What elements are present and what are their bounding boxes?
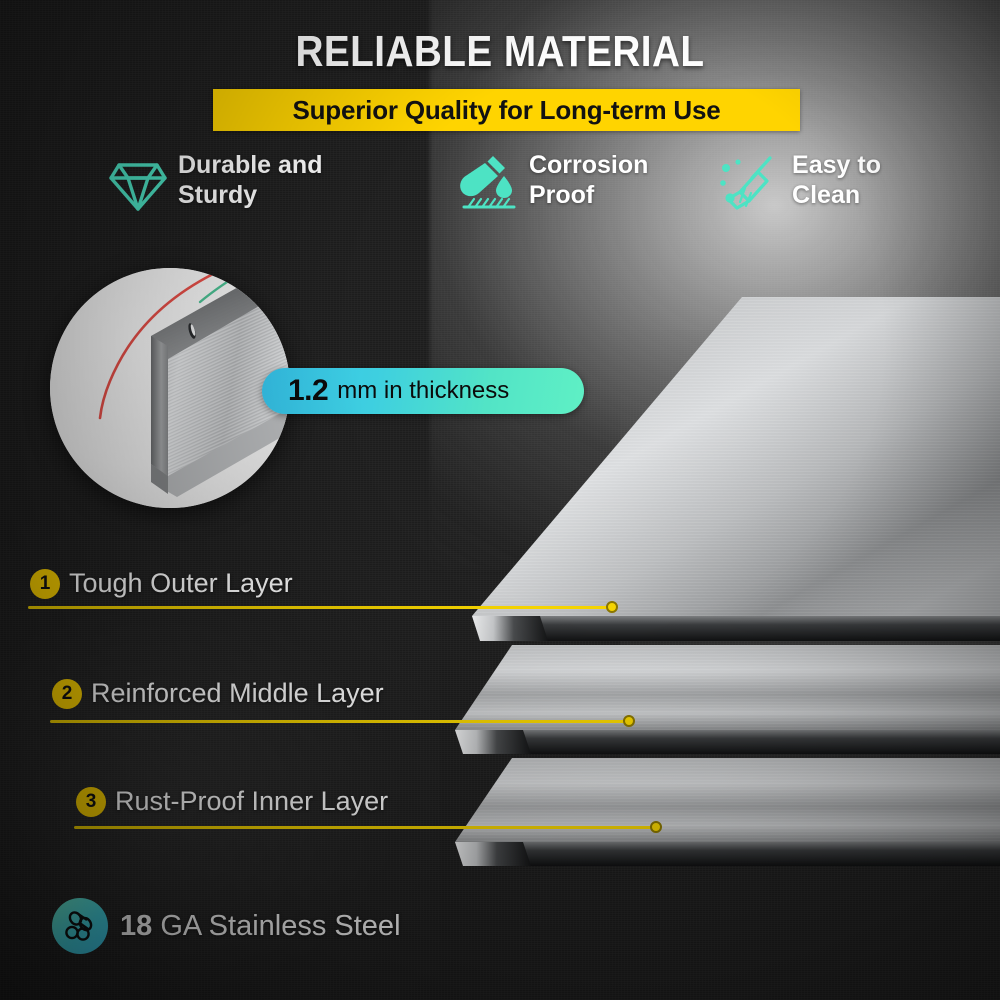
infographic-canvas: RELIABLE MATERIAL Superior Quality for L… [0,0,1000,1000]
background-vignette [0,0,1000,1000]
